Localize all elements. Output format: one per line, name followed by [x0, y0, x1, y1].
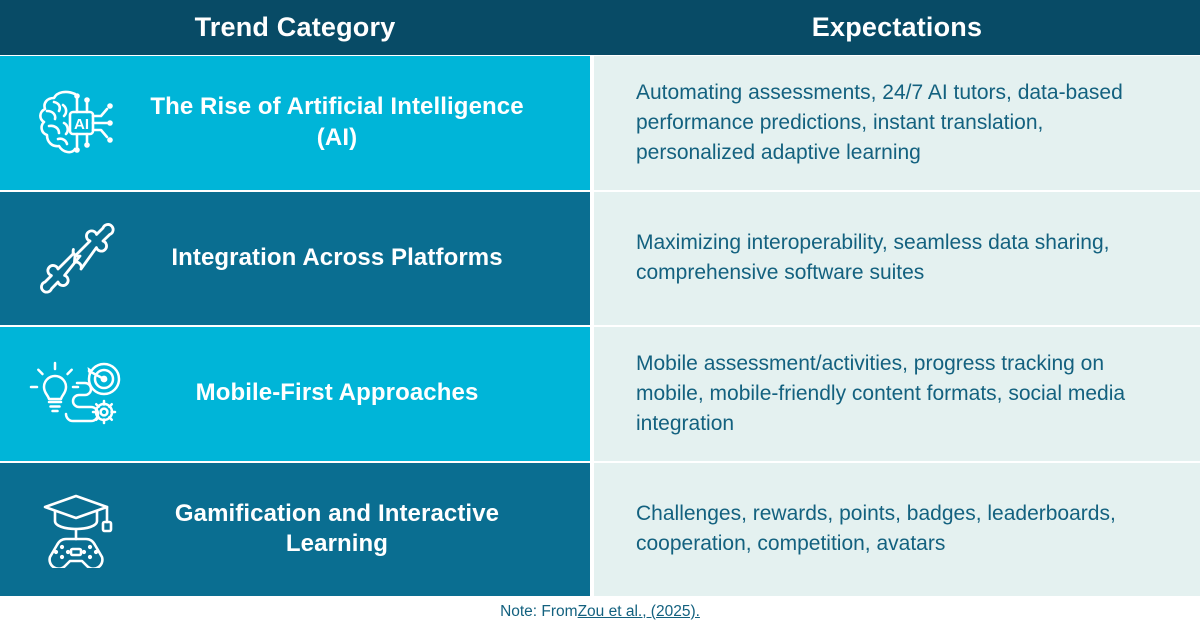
trends-table: Trend Category Expectations: [0, 0, 1200, 627]
gamepad-graduation-cap-icon: [10, 490, 142, 568]
table-row: Gamification and Interactive Learning Ch…: [0, 461, 1200, 597]
expectations-cell: Mobile assessment/activities, progress t…: [594, 327, 1200, 461]
ai-brain-circuit-icon: AI: [10, 85, 142, 161]
table-row: Integration Across Platforms Maximizing …: [0, 190, 1200, 326]
expectations-text: Mobile assessment/activities, progress t…: [636, 349, 1130, 438]
category-cell: AI The Rise of Artificial Intelligence (…: [0, 56, 590, 190]
expectations-text: Maximizing interoperability, seamless da…: [636, 228, 1130, 288]
category-label: Mobile-First Approaches: [142, 378, 576, 409]
expectations-cell: Automating assessments, 24/7 AI tutors, …: [594, 56, 1200, 190]
expectations-cell: Challenges, rewards, points, badges, lea…: [594, 463, 1200, 597]
source-note: Note: From Zou et al., (2025).: [0, 596, 1200, 627]
expectations-cell: Maximizing interoperability, seamless da…: [594, 192, 1200, 326]
table-row: AI The Rise of Artificial Intelligence (…: [0, 55, 1200, 190]
expectations-text: Automating assessments, 24/7 AI tutors, …: [636, 78, 1130, 167]
category-label: Gamification and Interactive Learning: [142, 499, 576, 560]
category-cell: Gamification and Interactive Learning: [0, 463, 590, 597]
note-citation-link[interactable]: Zou et al., (2025).: [578, 603, 700, 621]
category-label: The Rise of Artificial Intelligence (AI): [142, 92, 576, 153]
note-prefix: Note: From: [500, 603, 578, 621]
expectations-text: Challenges, rewards, points, badges, lea…: [636, 499, 1130, 559]
column-header-trend-category: Trend Category: [0, 0, 590, 55]
table-header-row: Trend Category Expectations: [0, 0, 1200, 55]
puzzle-pieces-icon: [10, 220, 142, 296]
column-header-expectations: Expectations: [594, 0, 1200, 55]
svg-text:AI: AI: [74, 116, 89, 133]
category-cell: Mobile-First Approaches: [0, 327, 590, 461]
category-label: Integration Across Platforms: [142, 243, 576, 274]
table-row: Mobile-First Approaches Mobile assessmen…: [0, 325, 1200, 461]
table-body: AI The Rise of Artificial Intelligence (…: [0, 55, 1200, 596]
category-cell: Integration Across Platforms: [0, 192, 590, 326]
lightbulb-path-target-gear-icon: [10, 356, 142, 432]
